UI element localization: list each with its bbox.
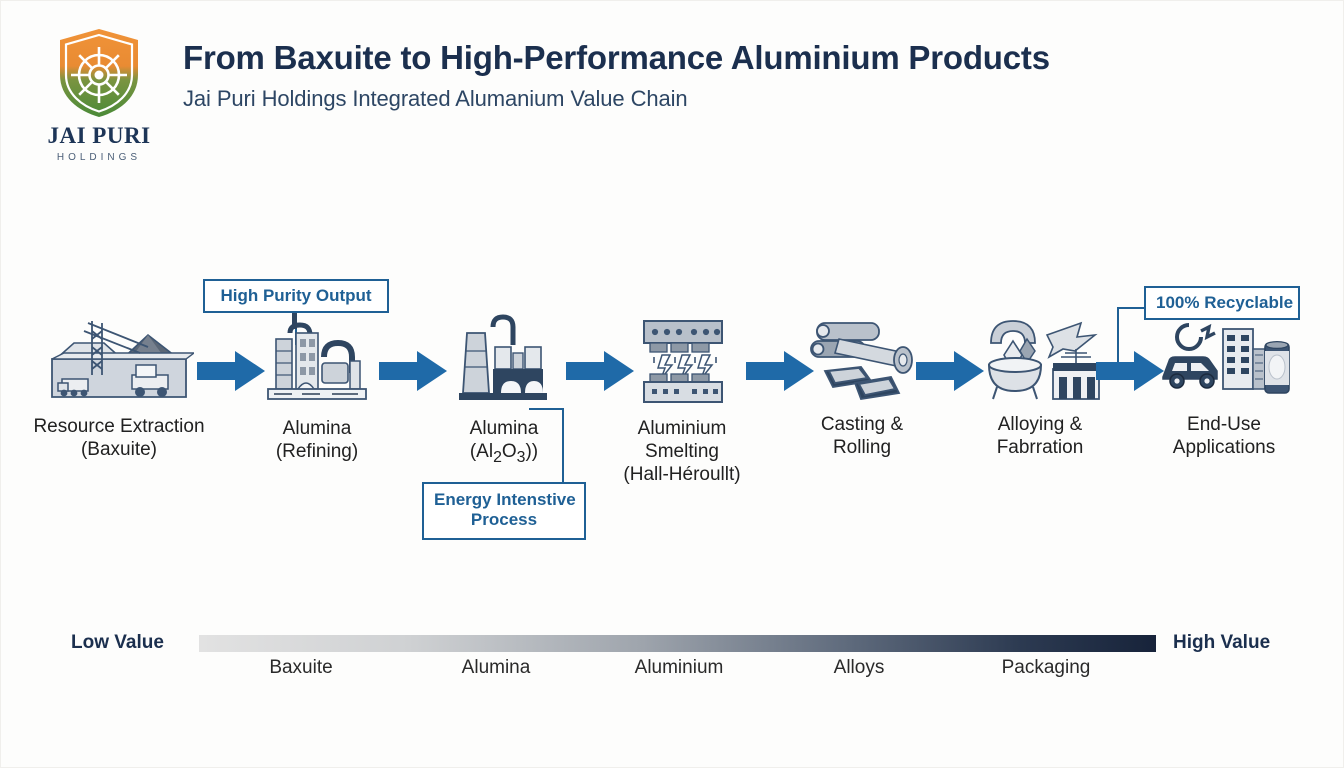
step-line1: Alloying & bbox=[998, 414, 1083, 435]
step-label-casting-rolling: Casting & Rolling bbox=[773, 413, 951, 459]
rolling-mill-icon bbox=[799, 315, 925, 403]
value-scale: Low Value High Value bbox=[1, 601, 1344, 711]
step-line1: Resource Extraction bbox=[33, 416, 204, 437]
logo-subword: HOLDINGS bbox=[45, 152, 153, 163]
value-chain-flow: High Purity Output Energy Intenstive Pro… bbox=[1, 263, 1344, 563]
callout-energy-intensive: Energy Intenstive Process bbox=[422, 482, 586, 540]
value-tick-baxuite: Baxuite bbox=[231, 657, 371, 679]
step-end-use-applications[interactable]: End-Use Applications bbox=[1129, 315, 1319, 459]
page-title: From Baxuite to High-Performance Alumini… bbox=[183, 39, 1050, 78]
callout-high-purity: High Purity Output bbox=[203, 279, 389, 313]
step-line3: (Hall-Héroullt) bbox=[593, 463, 771, 486]
step-label-end-use-applications: End-Use Applications bbox=[1129, 413, 1319, 459]
value-tick-packaging: Packaging bbox=[976, 657, 1116, 679]
callout-energy-line1: Energy Intenstive bbox=[434, 490, 576, 509]
step-label-aluminium-smelting: Aluminium Smelting (Hall-Héroullt) bbox=[593, 417, 771, 487]
value-tick-alloys: Alloys bbox=[789, 657, 929, 679]
header: JAI PURI HOLDINGS From Baxuite to High-P… bbox=[1, 1, 1344, 191]
value-scale-high-label: High Value bbox=[1173, 632, 1270, 654]
title-block: From Baxuite to High-Performance Alumini… bbox=[183, 39, 1050, 112]
smelting-cell-icon bbox=[628, 313, 736, 407]
crucible-pour-icon bbox=[977, 313, 1103, 403]
step-line2: Smelting bbox=[593, 440, 771, 463]
callout-energy-line2: Process bbox=[471, 510, 537, 529]
step-label-resource-extraction: Resource Extraction (Baxuite) bbox=[19, 415, 219, 461]
step-line1: Alumina bbox=[470, 418, 539, 439]
step-line1: Casting & bbox=[821, 414, 903, 435]
shield-logo-icon bbox=[56, 27, 142, 119]
value-tick-alumina: Alumina bbox=[426, 657, 566, 679]
step-line2: Rolling bbox=[773, 436, 951, 459]
step-line1: Alumina bbox=[283, 418, 352, 439]
end-use-products-icon bbox=[1157, 315, 1291, 403]
step-line1: Aluminium bbox=[638, 418, 727, 439]
value-tick-aluminium: Aluminium bbox=[609, 657, 749, 679]
step-label-alumina-refining: Alumina (Refining) bbox=[228, 417, 406, 463]
mining-site-icon bbox=[44, 313, 194, 405]
step-line2: (Baxuite) bbox=[19, 438, 219, 461]
step-label-alloying-fabrication: Alloying & Fabrration bbox=[951, 413, 1129, 459]
step-line2: Applications bbox=[1129, 436, 1319, 459]
ev-charge-icon bbox=[1177, 325, 1215, 349]
step-aluminium-smelting[interactable]: Aluminium Smelting (Hall-Héroullt) bbox=[593, 313, 771, 487]
logo-wordmark: JAI PURI bbox=[45, 123, 153, 149]
step-line1: End-Use bbox=[1187, 414, 1261, 435]
company-logo: JAI PURI HOLDINGS bbox=[45, 27, 153, 163]
value-scale-low-label: Low Value bbox=[71, 632, 164, 654]
industrial-plant-icon bbox=[449, 311, 559, 407]
step-line2: (Al2O3)) bbox=[415, 440, 593, 467]
page-subtitle: Jai Puri Holdings Integrated Alumanium V… bbox=[183, 86, 1050, 112]
callout-high-purity-text: High Purity Output bbox=[220, 286, 371, 305]
value-gradient-track bbox=[199, 635, 1156, 652]
callout-recyclable-text: 100% Recyclable bbox=[1156, 293, 1293, 312]
refinery-plant-icon bbox=[262, 311, 372, 407]
infographic-canvas: JAI PURI HOLDINGS From Baxuite to High-P… bbox=[0, 0, 1344, 768]
step-line2: (Refining) bbox=[228, 440, 406, 463]
step-line2: Fabrration bbox=[951, 436, 1129, 459]
step-label-alumina-oxide: Alumina (Al2O3)) bbox=[415, 417, 593, 467]
step-resource-extraction[interactable]: Resource Extraction (Baxuite) bbox=[19, 313, 219, 461]
truck-left bbox=[58, 379, 88, 396]
